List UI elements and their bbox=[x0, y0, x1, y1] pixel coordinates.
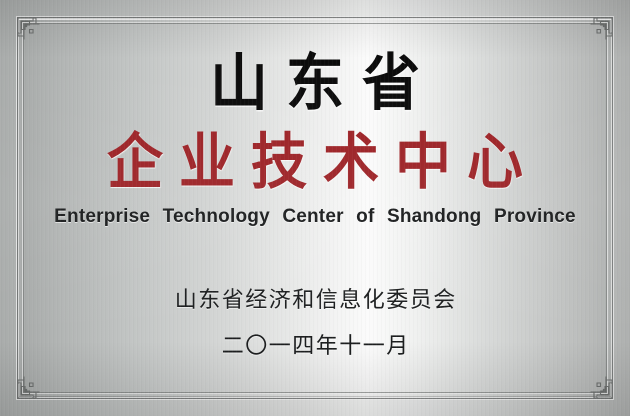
plaque-inner-panel bbox=[19, 19, 611, 397]
award-plaque: 山东省 企业技术中心 Enterprise Technology Center … bbox=[0, 0, 630, 416]
